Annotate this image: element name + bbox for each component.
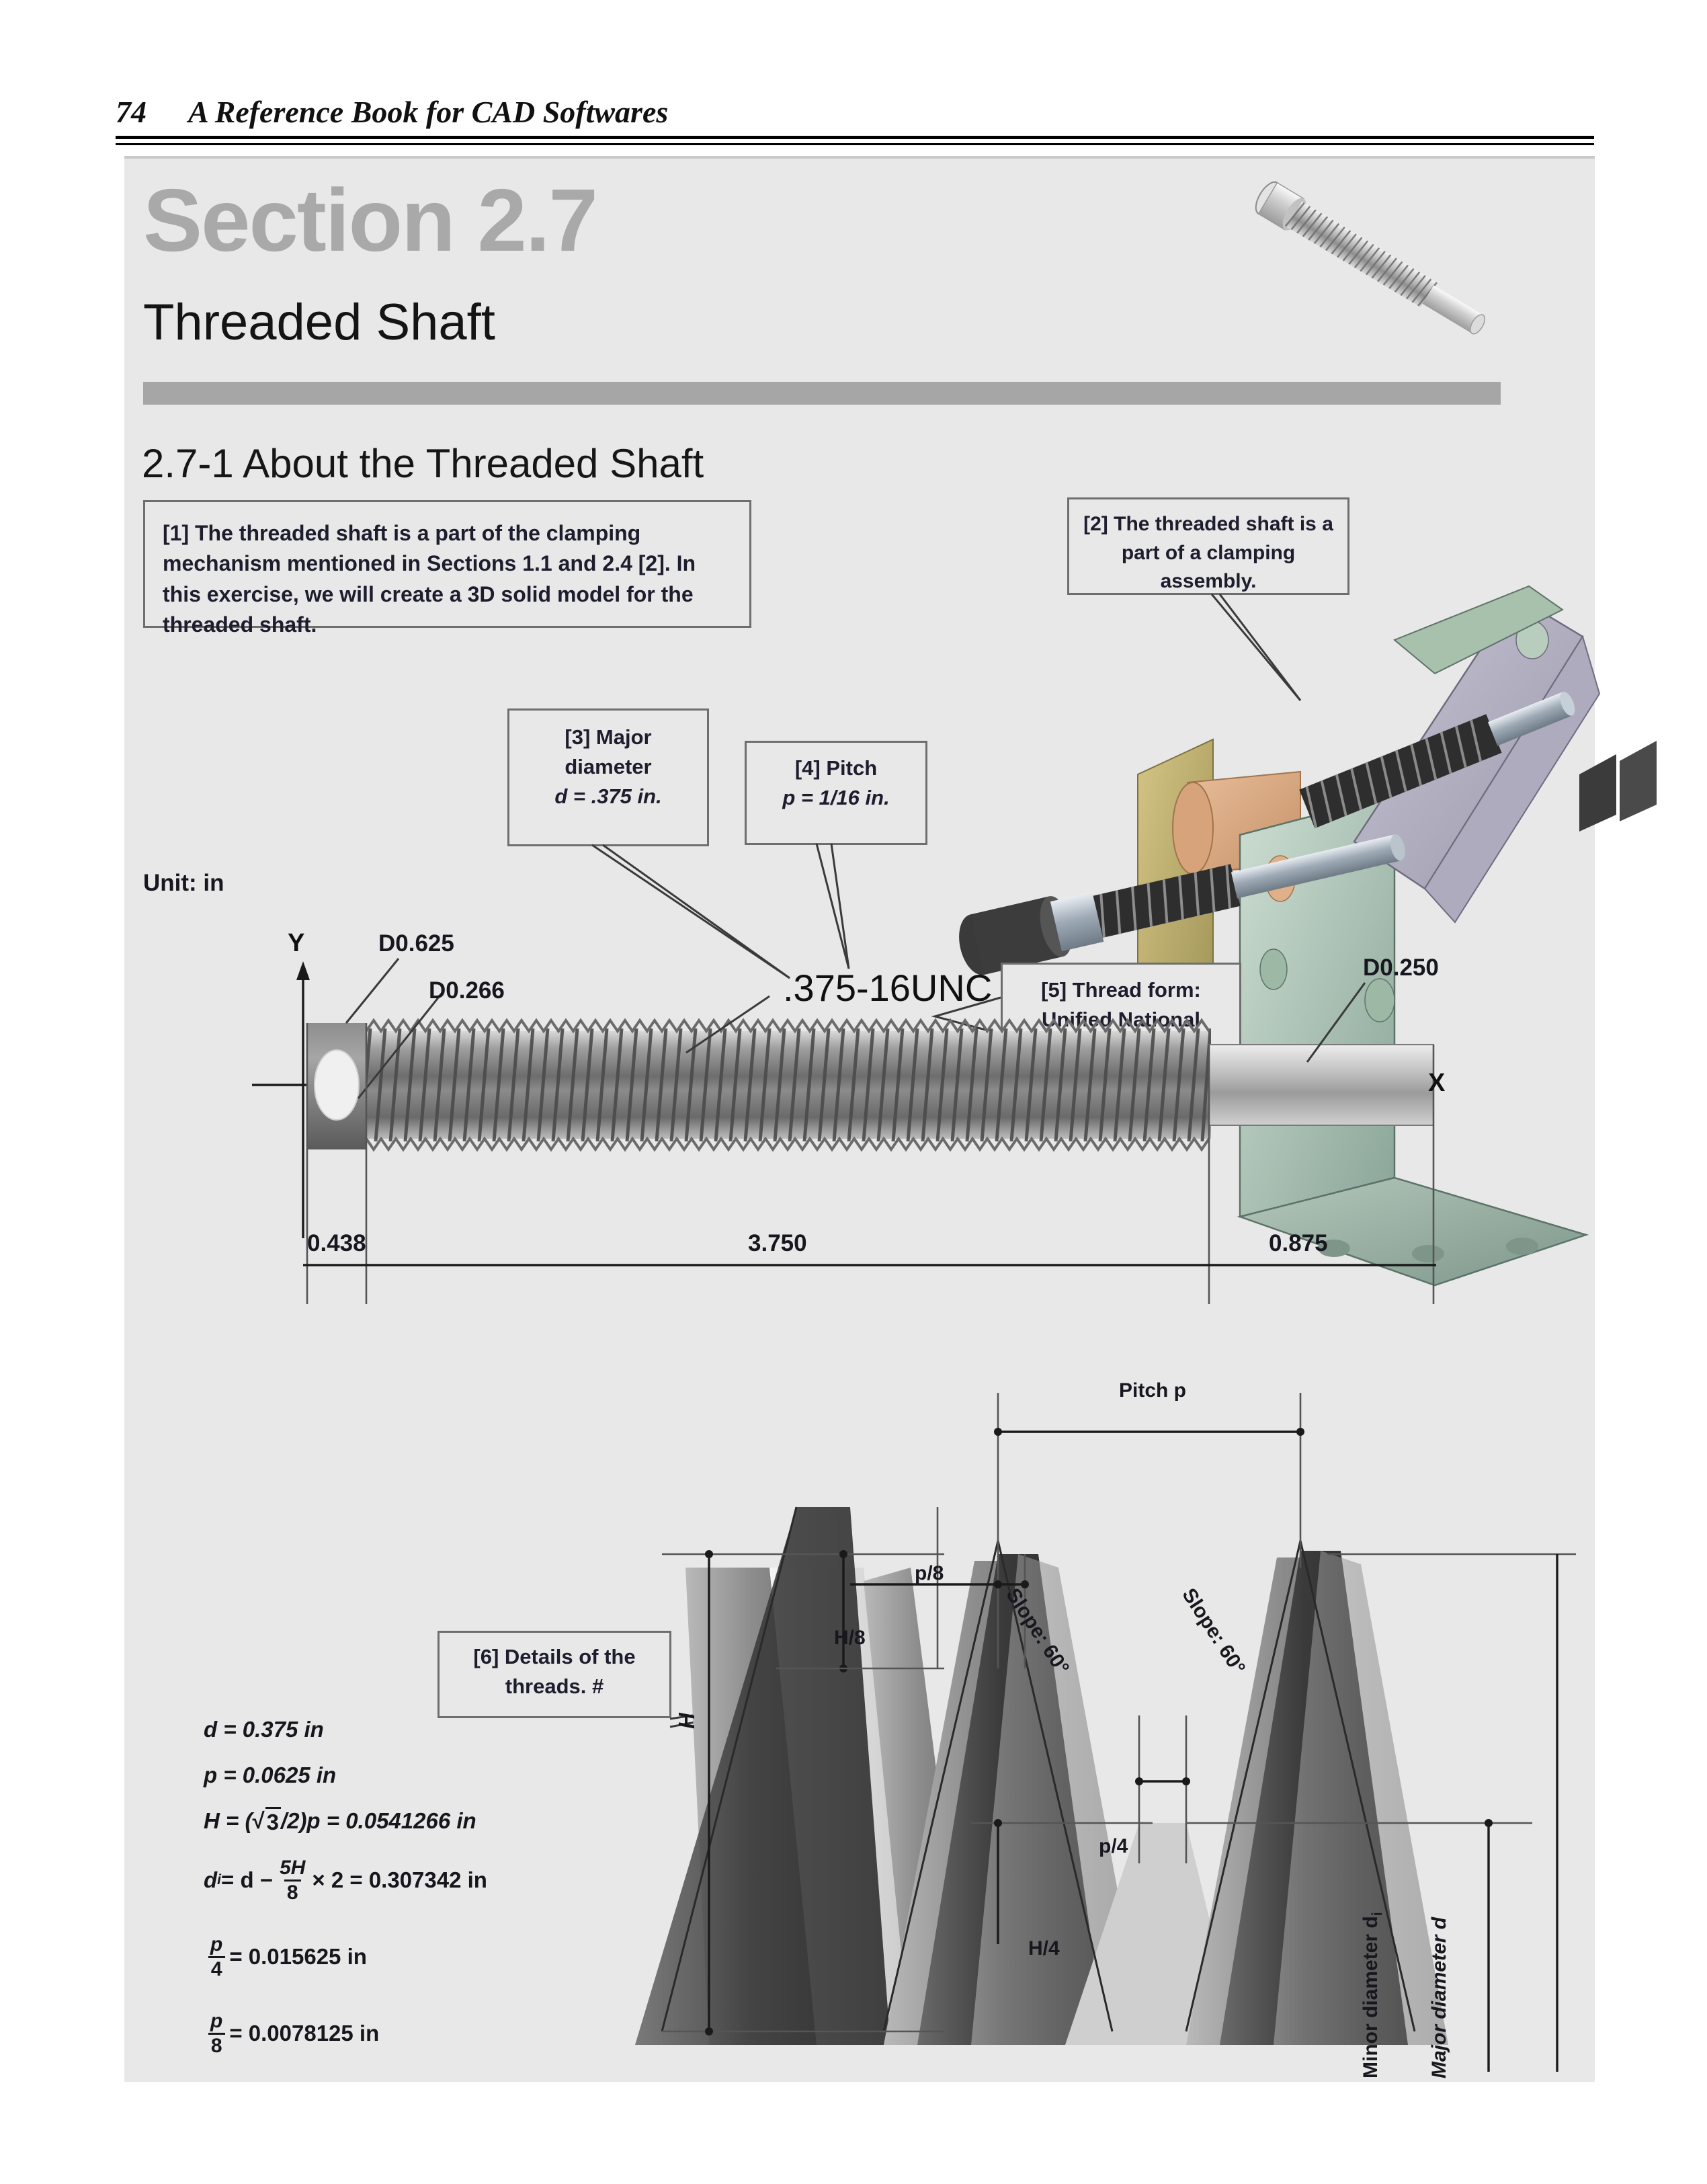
formula-H-lead: H = (: [204, 1808, 252, 1834]
pitch-label: Pitch p: [1119, 1379, 1186, 1402]
book-title: A Reference Book for CAD Softwares: [188, 94, 668, 130]
formula-d: d = 0.375 in: [204, 1715, 620, 1744]
formula-p4-tail: = 0.015625 in: [229, 1944, 367, 1970]
callout-3: [3] Major diameter d = .375 in.: [507, 709, 709, 846]
formula-p-over-4: p 4 = 0.015625 in: [204, 1931, 620, 1983]
callout-3-line-3: d = .375 in.: [519, 782, 698, 811]
callout-3-line-2: diameter: [519, 752, 698, 782]
h-over-8-label: H/8: [834, 1627, 866, 1650]
formula-p8-fraction: p 8: [208, 2011, 225, 2056]
formula-d-text: d = 0.375 in: [204, 1717, 324, 1742]
callout-1-text: [1] The threaded shaft is a part of the …: [163, 518, 732, 641]
callout-1: [1] The threaded shaft is a part of the …: [143, 500, 751, 628]
header-rule-top: [116, 136, 1594, 139]
formula-p-over-8: p 8 = 0.0078125 in: [204, 2007, 620, 2060]
formula-di-lead: d: [204, 1867, 217, 1893]
dimension-right: 0.875: [1269, 1230, 1328, 1257]
H-height-label: H: [674, 1713, 700, 1729]
formula-p: p = 0.0625 in: [204, 1761, 620, 1789]
formula-p8-denominator: 8: [208, 2033, 225, 2056]
tip-diameter-label: D0.250: [1363, 955, 1439, 981]
formula-p8-numerator: p: [208, 2011, 225, 2033]
minor-diameter-label: Minor diameter di: [1360, 1912, 1386, 2078]
header-divider-bar: [143, 382, 1501, 405]
formula-H-radicand: 3: [265, 1807, 281, 1835]
callout-4: [4] Pitch p = 1/16 in.: [745, 741, 927, 845]
formula-H-tail: /2)p = 0.0541266 in: [281, 1808, 476, 1834]
formula-p4-fraction: p 4: [208, 1935, 225, 1980]
formula-p8-tail: = 0.0078125 in: [229, 2021, 379, 2046]
formula-di-numerator: 5H: [277, 1858, 308, 1879]
threaded-shaft-hero-image: [1230, 146, 1546, 341]
formula-minor-diameter: di = d − 5H 8 × 2 = 0.307342 in: [204, 1853, 620, 1908]
callout-3-line-1: [3] Major: [519, 723, 698, 752]
thread-formula-block: d = 0.375 in p = 0.0625 in H = ( √3 /2)p…: [204, 1715, 620, 2077]
h-over-4-label: H/4: [1028, 1937, 1060, 1960]
formula-p4-numerator: p: [208, 1935, 225, 1956]
formula-di-fraction: 5H 8: [277, 1858, 308, 1903]
minor-diameter-text: Minor diameter d: [1360, 1916, 1382, 2078]
formula-di-denominator: 8: [284, 1879, 301, 1903]
formula-p4-denominator: 4: [208, 1956, 225, 1980]
dimension-middle: 3.750: [748, 1230, 807, 1257]
hole-diameter-label: D0.266: [429, 977, 505, 1004]
running-head: 74 A Reference Book for CAD Softwares: [0, 0, 1707, 141]
header-rule-bottom: [116, 143, 1594, 145]
page-number: 74: [116, 94, 147, 130]
y-axis-label: Y: [288, 929, 304, 958]
formula-H: H = ( √3 /2)p = 0.0541266 in: [204, 1807, 620, 1835]
formula-p-text: p = 0.0625 in: [204, 1763, 336, 1788]
p-over-4-label: p/4: [1099, 1835, 1128, 1858]
p-over-8-label: p/8: [915, 1562, 944, 1585]
callout-4-line-1: [4] Pitch: [755, 754, 917, 783]
dimension-left: 0.438: [307, 1230, 366, 1257]
x-axis-label: X: [1428, 1069, 1445, 1098]
head-diameter-label: D0.625: [378, 930, 454, 957]
minor-diameter-subscript: i: [1370, 1912, 1385, 1916]
section-number: Section 2.7: [143, 176, 597, 265]
section-title: Threaded Shaft: [143, 297, 495, 348]
formula-di-tail: × 2 = 0.307342 in: [312, 1867, 487, 1893]
callout-4-line-2: p = 1/16 in.: [755, 783, 917, 813]
formula-di-mid: = d −: [221, 1867, 273, 1893]
subsection-heading: 2.7-1 About the Threaded Shaft: [142, 444, 704, 484]
section-panel: Section 2.7 Threaded Shaft: [124, 156, 1595, 2082]
major-diameter-label: Major diameter d: [1428, 1917, 1451, 2078]
